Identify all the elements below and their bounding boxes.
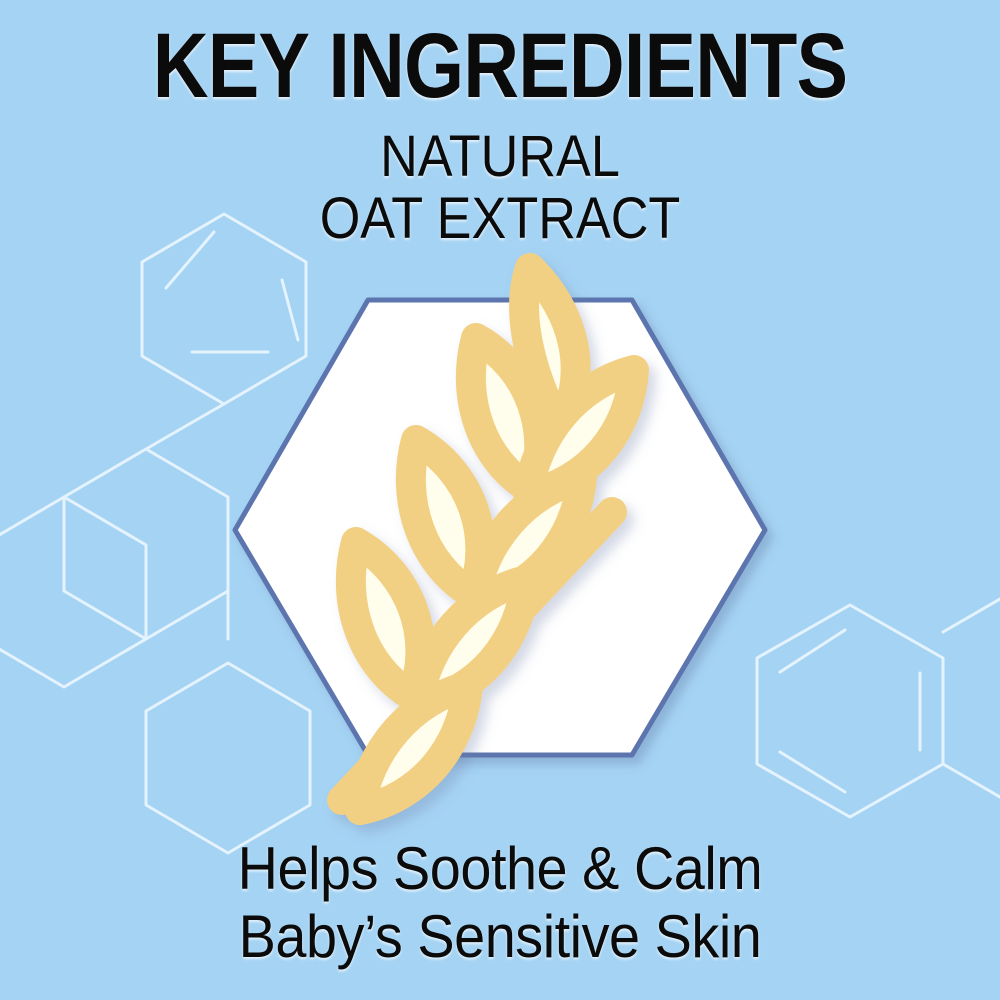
caption-line-2: Baby’s Sensitive Skin: [35, 903, 965, 971]
subtitle-line-2: OAT EXTRACT: [50, 188, 950, 250]
caption: Helps Soothe & Calm Baby’s Sensitive Ski…: [35, 835, 965, 971]
subtitle: NATURAL OAT EXTRACT: [50, 126, 950, 250]
hexagon-decor-middle-left: [64, 449, 228, 639]
key-ingredients-poster: KEY INGREDIENTS NATURAL OAT EXTRACT: [0, 0, 1000, 1000]
caption-line-1: Helps Soothe & Calm: [35, 835, 965, 903]
oat-extract-emblem: [230, 250, 790, 830]
subtitle-line-1: NATURAL: [50, 126, 950, 188]
page-title: KEY INGREDIENTS: [80, 20, 920, 112]
hexagon-decor-far-left: [0, 497, 146, 687]
